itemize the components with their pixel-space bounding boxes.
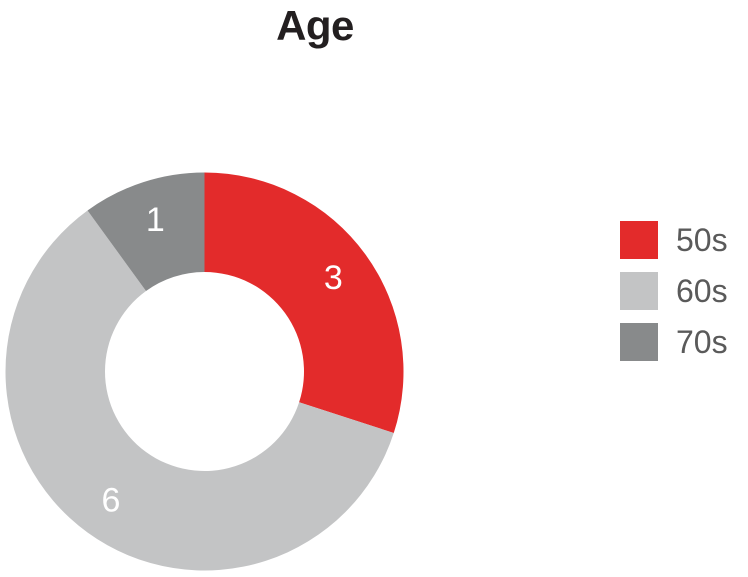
donut-slice-50s[interactable] [205,173,404,433]
chart-legend: 50s60s70s [620,221,748,361]
chart-figure: Age 361 50s60s70s [0,0,748,577]
legend-label-60s: 60s [676,275,728,307]
legend-swatch-50s [620,221,658,259]
donut-slices [5,173,403,571]
legend-item-60s[interactable]: 60s [620,272,748,310]
legend-item-50s[interactable]: 50s [620,221,748,259]
donut-slice-value-50s: 3 [324,259,343,297]
legend-label-70s: 70s [676,326,728,358]
legend-swatch-60s [620,272,658,310]
legend-label-50s: 50s [676,224,728,256]
donut-chart: 361 [5,172,404,571]
donut-slice-value-60s: 6 [101,481,120,519]
legend-swatch-70s [620,323,658,361]
legend-item-70s[interactable]: 70s [620,323,748,361]
donut-slice-value-70s: 1 [146,201,165,239]
donut-chart-svg: 361 [5,172,404,571]
chart-title: Age [0,4,630,48]
